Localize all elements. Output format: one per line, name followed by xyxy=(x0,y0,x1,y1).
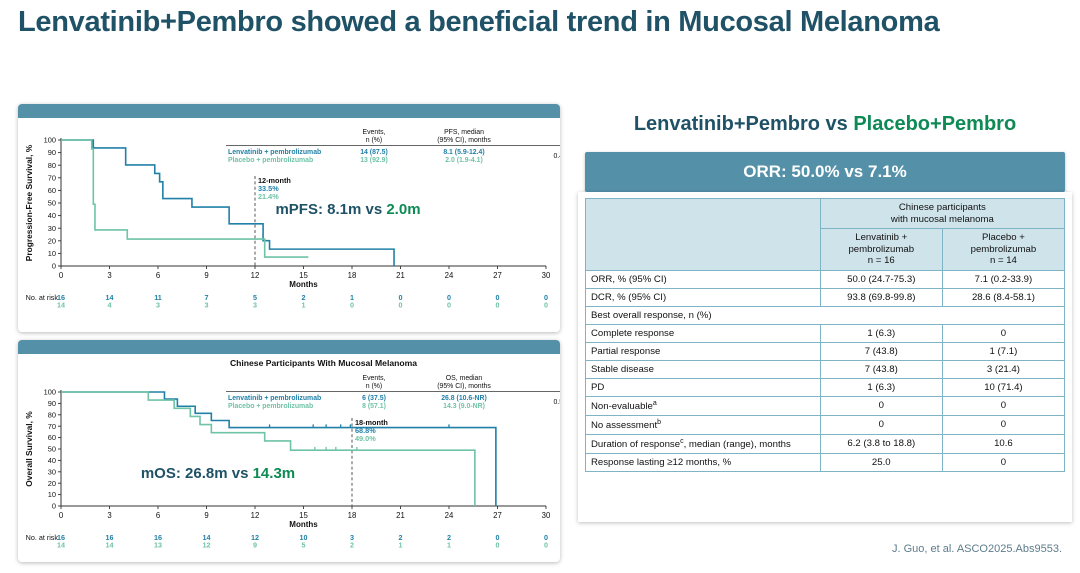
median-callout: mOS: 26.8m vs 14.3m xyxy=(141,465,295,482)
table-row: Complete response1 (6.3)0 xyxy=(586,324,1065,342)
legend-median: 2.0 (1.9-4.1) xyxy=(445,157,483,164)
risk-value-placebo: 1 xyxy=(302,301,306,310)
y-tick-label: 100 xyxy=(44,136,56,145)
table-cell-placebo: 0 xyxy=(942,415,1064,434)
risk-value-placebo: 0 xyxy=(399,301,403,310)
y-tick-label: 40 xyxy=(48,211,56,220)
os-chart-area: Chinese Participants With Mucosal Melano… xyxy=(18,354,560,562)
orr-banner: ORR: 50.0% vs 7.1% xyxy=(585,152,1065,192)
risk-value-placebo: 0 xyxy=(496,541,500,550)
table-cell-lenvatinib: 1 (6.3) xyxy=(820,378,942,396)
pfs-chart-card: 0102030405060708090100Progression-Free S… xyxy=(18,104,560,332)
median-callout-sep: vs xyxy=(361,201,386,218)
table-row: ORR, % (95% CI)50.0 (24.7-75.3)7.1 (0.2-… xyxy=(586,270,1065,288)
y-tick-label: 90 xyxy=(48,399,56,408)
footnote-marker: c xyxy=(680,438,684,445)
table-cell-lenvatinib: 1 (6.3) xyxy=(820,324,942,342)
header-arm-placebo: Placebo + pembrolizumab n = 14 xyxy=(942,229,1064,271)
table-cell-placebo: 7.1 (0.2-33.9) xyxy=(942,270,1064,288)
median-callout-sep: vs xyxy=(228,465,253,482)
table-cell-placebo: 3 (21.4) xyxy=(942,360,1064,378)
x-tick-label: 30 xyxy=(542,271,551,280)
y-tick-label: 80 xyxy=(48,410,56,419)
table-row: Best overall response, n (%) xyxy=(586,306,1065,324)
response-table: Chinese participants with mucosal melano… xyxy=(585,198,1065,472)
y-tick-label: 90 xyxy=(48,148,56,157)
table-row: Duration of responsec, median (range), m… xyxy=(586,434,1065,453)
table-cell-lenvatinib: 25.0 xyxy=(820,454,942,472)
x-tick-label: 27 xyxy=(493,511,502,520)
pfs-km-plot: 0102030405060708090100Progression-Free S… xyxy=(18,118,560,332)
risk-value-placebo: 0 xyxy=(350,301,354,310)
legend-events: 6 (37.5) xyxy=(362,395,386,402)
x-tick-label: 24 xyxy=(445,271,454,280)
x-tick-label: 6 xyxy=(156,511,160,520)
risk-value-placebo: 3 xyxy=(205,301,209,310)
legend-header-line2: (95% CI), months xyxy=(437,137,491,144)
y-tick-label: 70 xyxy=(48,422,56,431)
y-axis-label: Progression-Free Survival, % xyxy=(24,144,34,261)
y-tick-label: 0 xyxy=(52,502,56,511)
y-tick-label: 40 xyxy=(48,456,56,465)
x-tick-label: 27 xyxy=(493,271,502,280)
risk-value-placebo: 13 xyxy=(154,541,162,550)
table-row: Response lasting ≥12 months, %25.00 xyxy=(586,454,1065,472)
header-arm-placebo-l1: Placebo + xyxy=(948,232,1059,244)
y-tick-label: 10 xyxy=(48,249,56,258)
table-row-label: Stable disease xyxy=(586,360,821,378)
header-arm-lenvatinib-l2: pembrolizumab xyxy=(826,244,937,256)
x-tick-label: 3 xyxy=(107,271,111,280)
x-tick-label: 6 xyxy=(156,271,160,280)
legend-median: 14.3 (9.0-NR) xyxy=(443,403,485,410)
table-row-label: PD xyxy=(586,378,821,396)
risk-value-placebo: 12 xyxy=(203,541,211,550)
risk-value-placebo: 3 xyxy=(156,301,160,310)
table-row: No assessmentb00 xyxy=(586,415,1065,434)
legend-header-line1: Events, xyxy=(363,129,386,136)
header-arm-placebo-n: n = 14 xyxy=(948,255,1059,267)
risk-value-placebo: 4 xyxy=(108,301,112,310)
x-tick-label: 0 xyxy=(59,511,64,520)
risk-value-placebo: 3 xyxy=(253,301,257,310)
risk-value-placebo: 1 xyxy=(399,541,403,550)
response-table-head: Chinese participants with mucosal melano… xyxy=(586,199,1065,271)
y-tick-label: 70 xyxy=(48,173,56,182)
citation-footer: J. Guo, et al. ASCO2025.Abs9553. xyxy=(892,543,1062,555)
legend-header-line2: n (%) xyxy=(366,383,382,390)
table-row: Non-evaluablea00 xyxy=(586,396,1065,415)
table-row-label: Best overall response, n (%) xyxy=(586,306,1065,324)
x-axis-label: Months xyxy=(289,520,318,529)
legend-header-line1: PFS, median xyxy=(444,129,484,136)
os-chart-card: Chinese Participants With Mucosal Melano… xyxy=(18,340,560,562)
legend-name-lenvatinib: Lenvatinib + pembrolizumab xyxy=(228,149,321,156)
y-tick-label: 60 xyxy=(48,433,56,442)
y-tick-label: 20 xyxy=(48,479,56,488)
table-cell-lenvatinib: 93.8 (69.8-99.8) xyxy=(820,288,942,306)
comparison-heading-lenvatinib: Lenvatinib+Pembro vs xyxy=(634,113,854,135)
x-tick-label: 18 xyxy=(348,271,357,280)
y-tick-label: 30 xyxy=(48,224,56,233)
legend-header-line1: Events, xyxy=(363,375,386,382)
y-tick-label: 10 xyxy=(48,490,56,499)
risk-value-placebo: 9 xyxy=(253,541,257,550)
x-tick-label: 24 xyxy=(445,511,454,520)
table-cell-placebo: 1 (7.1) xyxy=(942,342,1064,360)
risk-value-placebo: 0 xyxy=(544,301,548,310)
milestone-value-placebo: 49.0% xyxy=(355,434,376,443)
header-group-line2: with mucosal melanoma xyxy=(826,214,1059,226)
risk-value-placebo: 0 xyxy=(447,301,451,310)
x-tick-label: 12 xyxy=(251,511,260,520)
legend-header-line2: (95% CI), months xyxy=(437,383,491,390)
x-tick-label: 9 xyxy=(204,271,208,280)
x-tick-label: 30 xyxy=(542,511,551,520)
risk-value-placebo: 2 xyxy=(350,541,354,550)
legend-median: 26.8 (10.6-NR) xyxy=(441,395,487,402)
pfs-chart-area: 0102030405060708090100Progression-Free S… xyxy=(18,118,560,332)
table-cell-placebo: 0 xyxy=(942,454,1064,472)
table-cell-lenvatinib: 0 xyxy=(820,415,942,434)
risk-value-placebo: 0 xyxy=(544,541,548,550)
legend-name-placebo: Placebo + pembrolizumab xyxy=(228,157,313,164)
x-tick-label: 3 xyxy=(107,511,111,520)
x-tick-label: 0 xyxy=(59,271,64,280)
table-cell-placebo: 10 (71.4) xyxy=(942,378,1064,396)
table-cell-lenvatinib: 6.2 (3.8 to 18.8) xyxy=(820,434,942,453)
table-row: Stable disease7 (43.8)3 (21.4) xyxy=(586,360,1065,378)
y-axis-label: Overall Survival, % xyxy=(24,411,34,487)
legend-median: 8.1 (5.9-12.4) xyxy=(443,149,484,156)
y-tick-label: 80 xyxy=(48,161,56,170)
header-blank-cell xyxy=(586,199,821,271)
risk-value-placebo: 0 xyxy=(496,301,500,310)
median-callout: mPFS: 8.1m vs 2.0m xyxy=(275,201,420,218)
table-cell-placebo: 10.6 xyxy=(942,434,1064,453)
median-callout-lenvatinib: mPFS: 8.1m xyxy=(275,201,361,218)
risk-value-placebo: 5 xyxy=(302,541,306,550)
table-cell-placebo: 0 xyxy=(942,396,1064,415)
comparison-heading-placebo: Placebo+Pembro xyxy=(853,113,1016,135)
legend-events: 14 (87.5) xyxy=(360,149,388,156)
legend-hr: 0.51 (0.17-1.55) xyxy=(553,399,560,406)
table-row-label: Duration of responsec, median (range), m… xyxy=(586,434,821,453)
table-row: DCR, % (95% CI)93.8 (69.8-99.8)28.6 (8.4… xyxy=(586,288,1065,306)
pfs-card-header-bar xyxy=(18,104,560,118)
header-group-label: Chinese participants with mucosal melano… xyxy=(820,199,1064,229)
risk-value-placebo: 1 xyxy=(447,541,451,550)
legend-name-placebo: Placebo + pembrolizumab xyxy=(228,403,313,410)
table-cell-lenvatinib: 7 (43.8) xyxy=(820,360,942,378)
y-tick-label: 30 xyxy=(48,467,56,476)
table-row-label: Partial response xyxy=(586,342,821,360)
table-cell-placebo: 28.6 (8.4-58.1) xyxy=(942,288,1064,306)
legend-events: 13 (92.9) xyxy=(360,157,388,164)
x-tick-label: 21 xyxy=(396,271,405,280)
response-table-body: ORR, % (95% CI)50.0 (24.7-75.3)7.1 (0.2-… xyxy=(586,270,1065,472)
y-tick-label: 100 xyxy=(44,388,56,397)
legend-hr: 0.44 (0.20-0.97) xyxy=(553,153,560,160)
milestone-value-placebo: 21.4% xyxy=(258,192,279,201)
os-km-plot: Chinese Participants With Mucosal Melano… xyxy=(18,354,560,562)
os-card-header-bar xyxy=(18,340,560,354)
legend-name-lenvatinib: Lenvatinib + pembrolizumab xyxy=(228,395,321,402)
legend-header-line1: OS, median xyxy=(446,375,483,382)
header-group-line1: Chinese participants xyxy=(826,202,1059,214)
table-cell-placebo: 0 xyxy=(942,324,1064,342)
x-tick-label: 18 xyxy=(348,511,357,520)
x-tick-label: 9 xyxy=(204,511,208,520)
table-cell-lenvatinib: 7 (43.8) xyxy=(820,342,942,360)
table-cell-lenvatinib: 0 xyxy=(820,396,942,415)
y-tick-label: 50 xyxy=(48,199,56,208)
response-table-card: Chinese participants with mucosal melano… xyxy=(578,192,1072,522)
header-arm-lenvatinib-n: n = 16 xyxy=(826,255,937,267)
y-tick-label: 0 xyxy=(52,262,56,271)
header-arm-lenvatinib: Lenvatinib + pembrolizumab n = 16 xyxy=(820,229,942,271)
median-callout-placebo: 14.3m xyxy=(253,465,296,482)
table-row-label: No assessmentb xyxy=(586,415,821,434)
x-tick-label: 21 xyxy=(396,511,405,520)
comparison-heading: Lenvatinib+Pembro vs Placebo+Pembro xyxy=(575,113,1075,136)
table-row-label: Non-evaluablea xyxy=(586,396,821,415)
header-arm-placebo-l2: pembrolizumab xyxy=(948,244,1059,256)
table-header-row-group: Chinese participants with mucosal melano… xyxy=(586,199,1065,229)
footnote-marker: b xyxy=(657,419,661,426)
header-arm-lenvatinib-l1: Lenvatinib + xyxy=(826,232,937,244)
table-cell-lenvatinib: 50.0 (24.7-75.3) xyxy=(820,270,942,288)
x-tick-label: 12 xyxy=(251,271,260,280)
median-callout-placebo: 2.0m xyxy=(386,201,420,218)
table-row-label: DCR, % (95% CI) xyxy=(586,288,821,306)
footnote-marker: a xyxy=(653,400,657,407)
risk-value-placebo: 14 xyxy=(106,541,114,550)
x-axis-label: Months xyxy=(289,280,318,289)
y-tick-label: 60 xyxy=(48,186,56,195)
median-callout-lenvatinib: mOS: 26.8m xyxy=(141,465,228,482)
chart-title: Chinese Participants With Mucosal Melano… xyxy=(230,358,417,368)
x-tick-label: 15 xyxy=(299,511,308,520)
legend-events: 8 (57.1) xyxy=(362,403,386,410)
risk-value-placebo: 14 xyxy=(57,301,65,310)
x-tick-label: 15 xyxy=(299,271,308,280)
table-row: PD1 (6.3)10 (71.4) xyxy=(586,378,1065,396)
y-tick-label: 50 xyxy=(48,445,56,454)
legend-header-line2: n (%) xyxy=(366,137,382,144)
table-row-label: Complete response xyxy=(586,324,821,342)
table-row: Partial response7 (43.8)1 (7.1) xyxy=(586,342,1065,360)
no-at-risk-label: No. at risk xyxy=(26,293,59,302)
table-row-label: ORR, % (95% CI) xyxy=(586,270,821,288)
page-title: Lenvatinib+Pembro showed a beneficial tr… xyxy=(18,6,1028,39)
table-row-label: Response lasting ≥12 months, % xyxy=(586,454,821,472)
risk-value-placebo: 14 xyxy=(57,541,65,550)
no-at-risk-label: No. at risk xyxy=(26,533,59,542)
y-tick-label: 20 xyxy=(48,236,56,245)
